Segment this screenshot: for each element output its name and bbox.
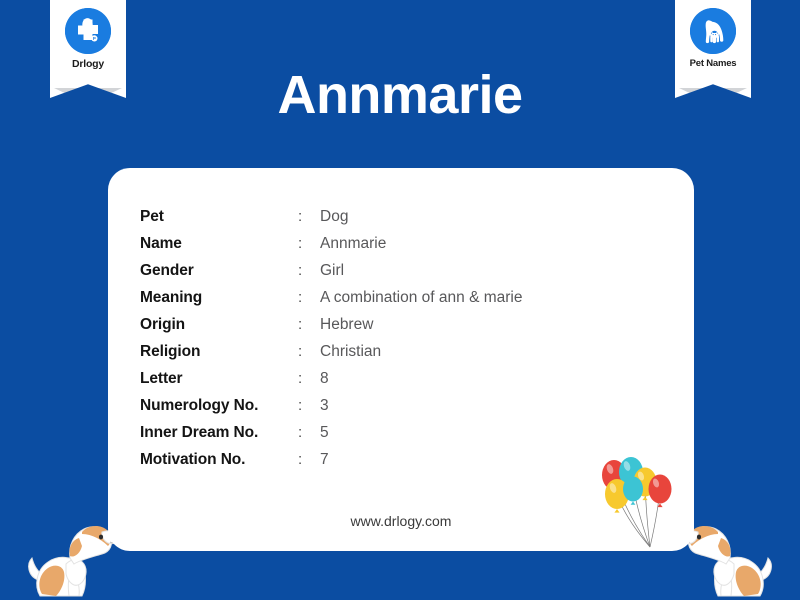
row-value: Annmarie bbox=[320, 235, 386, 253]
row-label: Origin bbox=[140, 316, 298, 334]
row-separator: : bbox=[298, 397, 320, 414]
row-value: 7 bbox=[320, 451, 329, 469]
badge-body: P Drlogy bbox=[50, 0, 126, 98]
row-value: Christian bbox=[320, 343, 381, 361]
row-label: Gender bbox=[140, 262, 298, 280]
svg-text:P: P bbox=[93, 36, 96, 41]
row-value: 8 bbox=[320, 370, 329, 388]
row-label: Religion bbox=[140, 343, 298, 361]
row-label: Meaning bbox=[140, 289, 298, 307]
badge-label-drlogy: Drlogy bbox=[72, 59, 104, 76]
badge-pet-names[interactable]: Pet Names bbox=[675, 0, 751, 98]
table-row: Religion : Christian bbox=[140, 343, 522, 370]
table-row: Meaning : A combination of ann & marie bbox=[140, 289, 522, 316]
badge-label-pet-names: Pet Names bbox=[690, 59, 737, 75]
balloon-cluster-icon bbox=[590, 443, 690, 551]
table-row: Origin : Hebrew bbox=[140, 316, 522, 343]
row-separator: : bbox=[298, 208, 320, 225]
badge-body: Pet Names bbox=[675, 0, 751, 98]
row-separator: : bbox=[298, 424, 320, 441]
table-row: Letter : 8 bbox=[140, 370, 522, 397]
row-value: Dog bbox=[320, 208, 348, 226]
row-separator: : bbox=[298, 235, 320, 252]
row-label: Pet bbox=[140, 208, 298, 226]
table-row: Name : Annmarie bbox=[140, 235, 522, 262]
row-value: 3 bbox=[320, 397, 329, 415]
row-separator: : bbox=[298, 316, 320, 333]
badge-drlogy[interactable]: P Drlogy bbox=[50, 0, 126, 98]
row-value: Girl bbox=[320, 262, 344, 280]
table-row: Pet : Dog bbox=[140, 208, 522, 235]
table-row: Motivation No. : 7 bbox=[140, 451, 522, 478]
row-label: Letter bbox=[140, 370, 298, 388]
medical-cross-stethoscope-icon: P bbox=[65, 8, 111, 54]
info-card: Pet : Dog Name : Annmarie Gender : Girl … bbox=[108, 168, 694, 551]
row-label: Numerology No. bbox=[140, 397, 298, 415]
table-row: Inner Dream No. : 5 bbox=[140, 424, 522, 451]
dog-cat-icon bbox=[690, 8, 736, 54]
row-value: A combination of ann & marie bbox=[320, 289, 522, 307]
row-separator: : bbox=[298, 451, 320, 468]
row-value: 5 bbox=[320, 424, 329, 442]
table-row: Gender : Girl bbox=[140, 262, 522, 289]
pet-name-details-table: Pet : Dog Name : Annmarie Gender : Girl … bbox=[140, 208, 522, 478]
row-label: Inner Dream No. bbox=[140, 424, 298, 442]
row-separator: : bbox=[298, 289, 320, 306]
table-row: Numerology No. : 3 bbox=[140, 397, 522, 424]
row-value: Hebrew bbox=[320, 316, 373, 334]
row-separator: : bbox=[298, 343, 320, 360]
row-label: Motivation No. bbox=[140, 451, 298, 469]
row-separator: : bbox=[298, 262, 320, 279]
row-separator: : bbox=[298, 370, 320, 387]
row-label: Name bbox=[140, 235, 298, 253]
